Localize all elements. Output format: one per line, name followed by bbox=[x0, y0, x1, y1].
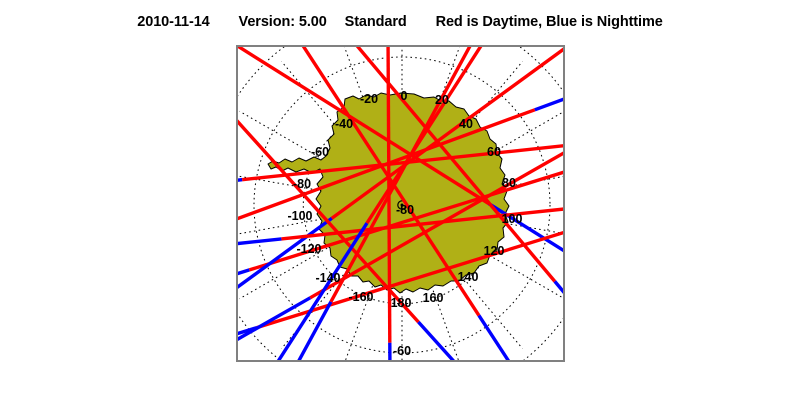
title-version: Version: 5.00 bbox=[239, 14, 327, 30]
title-date: 2010-11-14 bbox=[137, 14, 209, 30]
title-mode: Standard bbox=[345, 14, 407, 30]
track-13-night-b bbox=[555, 281, 563, 315]
chart-title: 2010-11-14 Version: 5.00 Standard Red is… bbox=[0, 13, 800, 31]
screenshot-root: 2010-11-14 Version: 5.00 Standard Red is… bbox=[0, 0, 800, 400]
title-legend: Red is Daytime, Blue is Nighttime bbox=[436, 14, 663, 30]
track-14-night bbox=[268, 223, 367, 360]
polar-map-plot: 020406080100120140160180-160-140-120-100… bbox=[236, 45, 565, 362]
track-2-night-a bbox=[238, 180, 242, 182]
track-12-night-b bbox=[418, 322, 468, 360]
map-svg bbox=[238, 47, 563, 360]
track-11-night-b bbox=[238, 239, 281, 245]
track-3-night-b bbox=[535, 91, 563, 110]
